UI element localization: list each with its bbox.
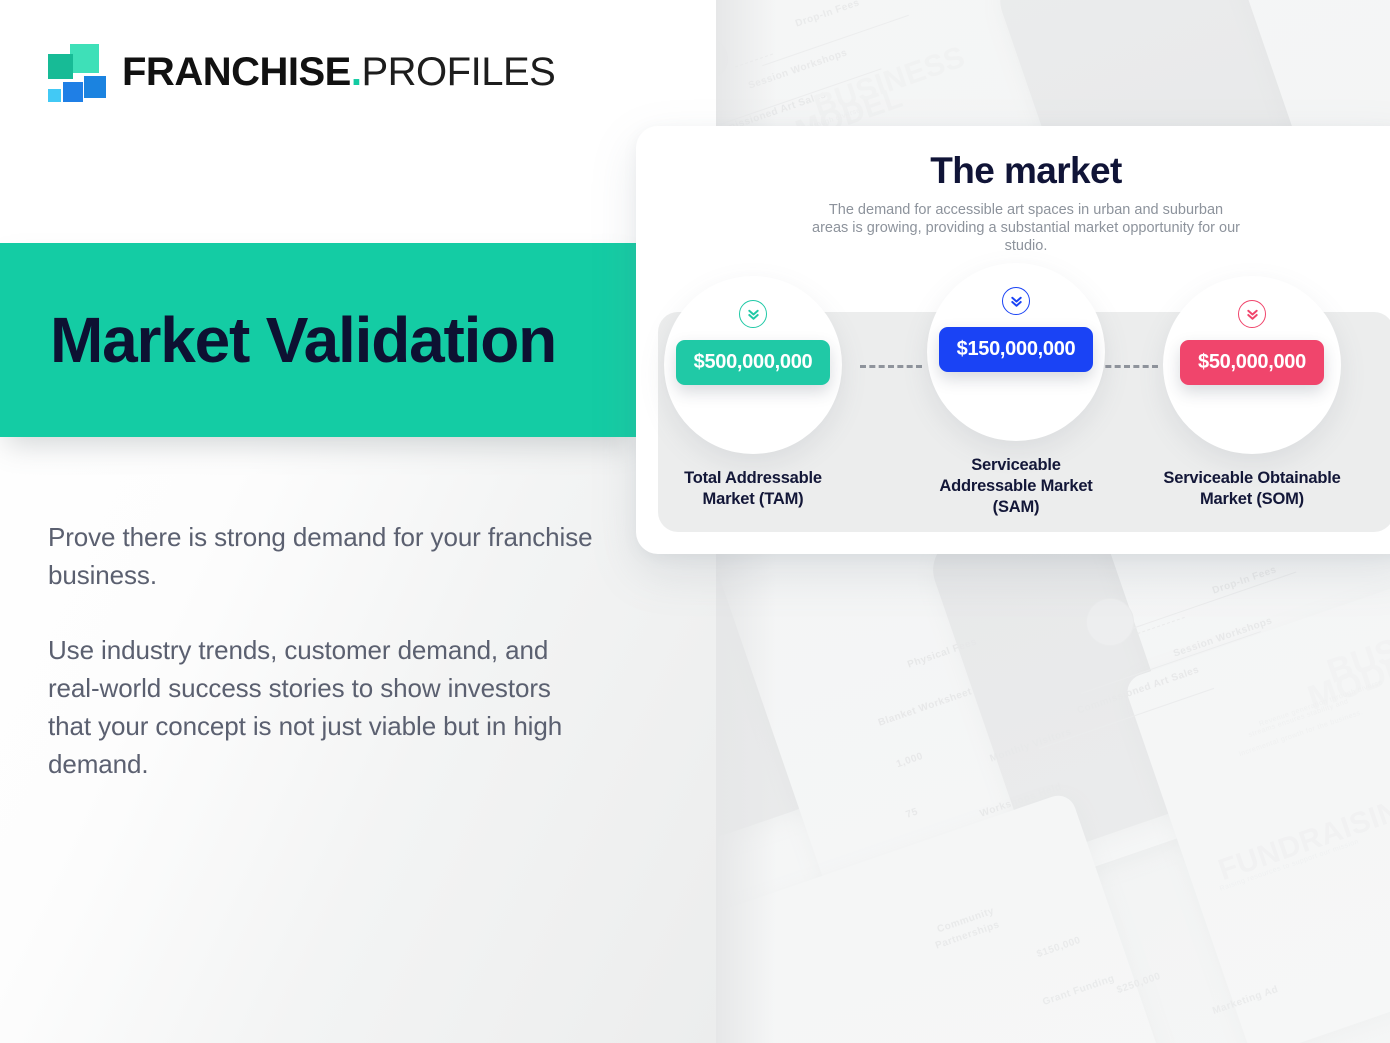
node-label: Serviceable Addressable Market (SAM) <box>921 455 1111 518</box>
node-value-badge: $150,000,000 <box>939 327 1094 372</box>
brand-wordmark: FRANCHISE.PROFILES <box>122 52 555 92</box>
node-circle: $150,000,000 <box>927 263 1105 441</box>
page-title: Market Validation <box>50 303 556 377</box>
market-card: The market The demand for accessible art… <box>636 126 1390 554</box>
body-copy: Prove there is strong demand for your fr… <box>48 518 593 783</box>
brand-name-dot: . <box>351 50 362 94</box>
logo-square-3 <box>84 76 106 98</box>
market-node-tam[interactable]: $500,000,000 Total Addressable Market (T… <box>658 276 848 510</box>
brand-name-bold: FRANCHISE <box>122 50 351 94</box>
logo-square-4 <box>63 82 83 102</box>
node-value-badge: $500,000,000 <box>676 340 831 385</box>
logo-square-2 <box>48 54 73 79</box>
brand-logo[interactable]: FRANCHISE.PROFILES <box>48 44 555 100</box>
market-nodes: $500,000,000 Total Addressable Market (T… <box>658 276 1390 546</box>
node-label: Serviceable Obtainable Market (SOM) <box>1157 468 1347 510</box>
market-node-sam[interactable]: $150,000,000 Serviceable Addressable Mar… <box>921 263 1111 518</box>
title-banner: Market Validation <box>0 243 637 437</box>
market-node-som[interactable]: $50,000,000 Serviceable Obtainable Marke… <box>1157 276 1347 510</box>
brand-name-light: PROFILES <box>361 50 555 94</box>
logo-square-5 <box>48 89 61 102</box>
paragraph-2: Use industry trends, customer demand, an… <box>48 631 593 783</box>
double-chevron-down-icon <box>1002 287 1030 315</box>
slide-canvas: Drop-In Fees Session Workshops Commissio… <box>0 0 1390 1043</box>
node-value-badge: $50,000,000 <box>1180 340 1324 385</box>
card-title: The market <box>636 150 1390 192</box>
bg-circle-icon <box>1086 598 1134 646</box>
card-subtitle: The demand for accessible art spaces in … <box>811 201 1241 255</box>
node-label: Total Addressable Market (TAM) <box>658 468 848 510</box>
left-panel-top-white <box>0 0 716 243</box>
double-chevron-down-icon <box>1238 300 1266 328</box>
node-circle: $500,000,000 <box>664 276 842 454</box>
node-circle: $50,000,000 <box>1163 276 1341 454</box>
logo-square-1 <box>70 44 99 73</box>
left-panel: FRANCHISE.PROFILES Market Validation Pro… <box>0 0 716 1043</box>
connector-tam-sam <box>860 365 922 368</box>
logo-mark-icon <box>48 44 106 100</box>
paragraph-1: Prove there is strong demand for your fr… <box>48 518 593 594</box>
double-chevron-down-icon <box>739 300 767 328</box>
